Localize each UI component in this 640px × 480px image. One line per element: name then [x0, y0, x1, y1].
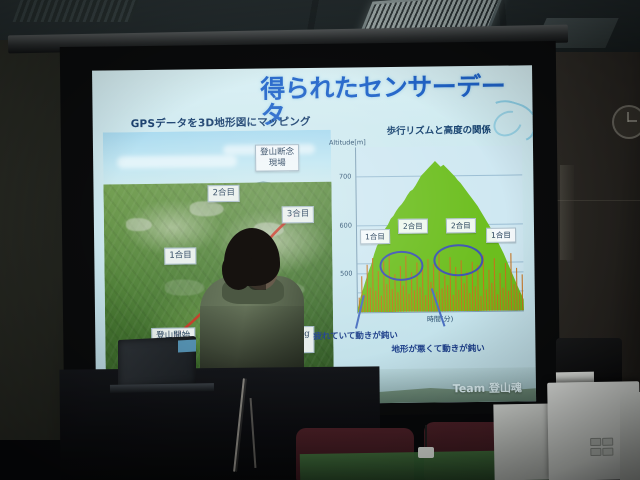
map-callout-dannen: 登山断念 現場 [255, 144, 299, 172]
av-panel-right [620, 392, 640, 480]
stage-label-2: 2合目 [398, 219, 428, 234]
stage-label-3: 2合目 [446, 218, 476, 233]
av-panel-button-2[interactable] [602, 438, 613, 446]
av-panel-left [493, 403, 552, 480]
annotation-terrain: 地形が悪くて動きが鈍い [391, 342, 484, 355]
annotation-tired: 疲れていて動きが鈍い [313, 329, 398, 342]
photo-scene: 得られたセンサーデータ GPSデータを3D地形図にマッピング [0, 0, 640, 480]
map-cloud [117, 155, 237, 168]
wall-panel [560, 165, 574, 260]
map-callout-2gome: 2合目 [207, 185, 240, 202]
slide-footer-team: Team 登山魂 [453, 379, 522, 396]
power-outlet [418, 447, 434, 458]
av-panel-button-1[interactable] [590, 438, 601, 446]
av-panel-button-4[interactable] [602, 448, 613, 456]
stage-label-1: 1合目 [360, 229, 390, 244]
stage-label-4: 1合目 [486, 227, 516, 242]
wall-clock-icon [612, 105, 640, 139]
presenter [198, 228, 306, 378]
chart-y-tick-label: 700 [339, 173, 352, 181]
chart-title: 歩行リズムと高度の関係 [353, 121, 525, 137]
chart-y-tick-label: 600 [339, 221, 352, 229]
ceiling-vent-left [13, 0, 142, 22]
map-callout-1gome: 1合目 [164, 247, 197, 264]
laptop-sticker [178, 340, 196, 353]
av-panel-button-3[interactable] [590, 448, 601, 456]
map-callout-3gome: 3合目 [282, 206, 315, 223]
chart-y-tick-label: 500 [340, 270, 353, 278]
slide-left-subtitle: GPSデータを3D地形図にマッピング [131, 114, 311, 131]
chart-y-axis-label: Altitude[m] [329, 138, 366, 146]
